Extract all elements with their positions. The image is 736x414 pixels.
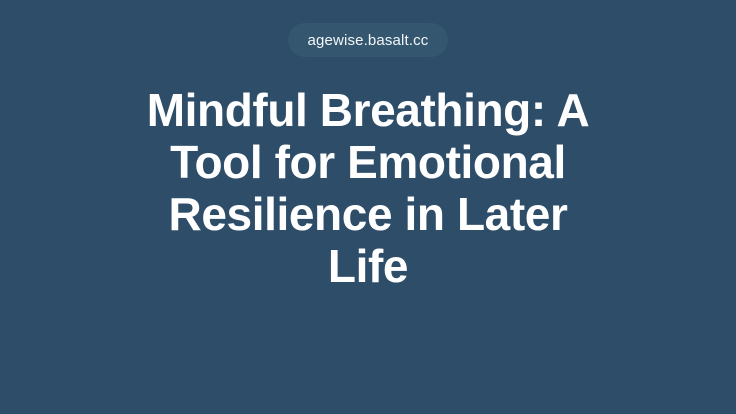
site-domain-label: agewise.basalt.cc <box>308 32 429 49</box>
site-domain-badge[interactable]: agewise.basalt.cc <box>288 23 449 57</box>
page-title: Mindful Breathing: A Tool for Emotional … <box>133 84 603 292</box>
title-slide: agewise.basalt.cc Mindful Breathing: A T… <box>0 0 736 414</box>
title-container: Mindful Breathing: A Tool for Emotional … <box>133 84 603 292</box>
